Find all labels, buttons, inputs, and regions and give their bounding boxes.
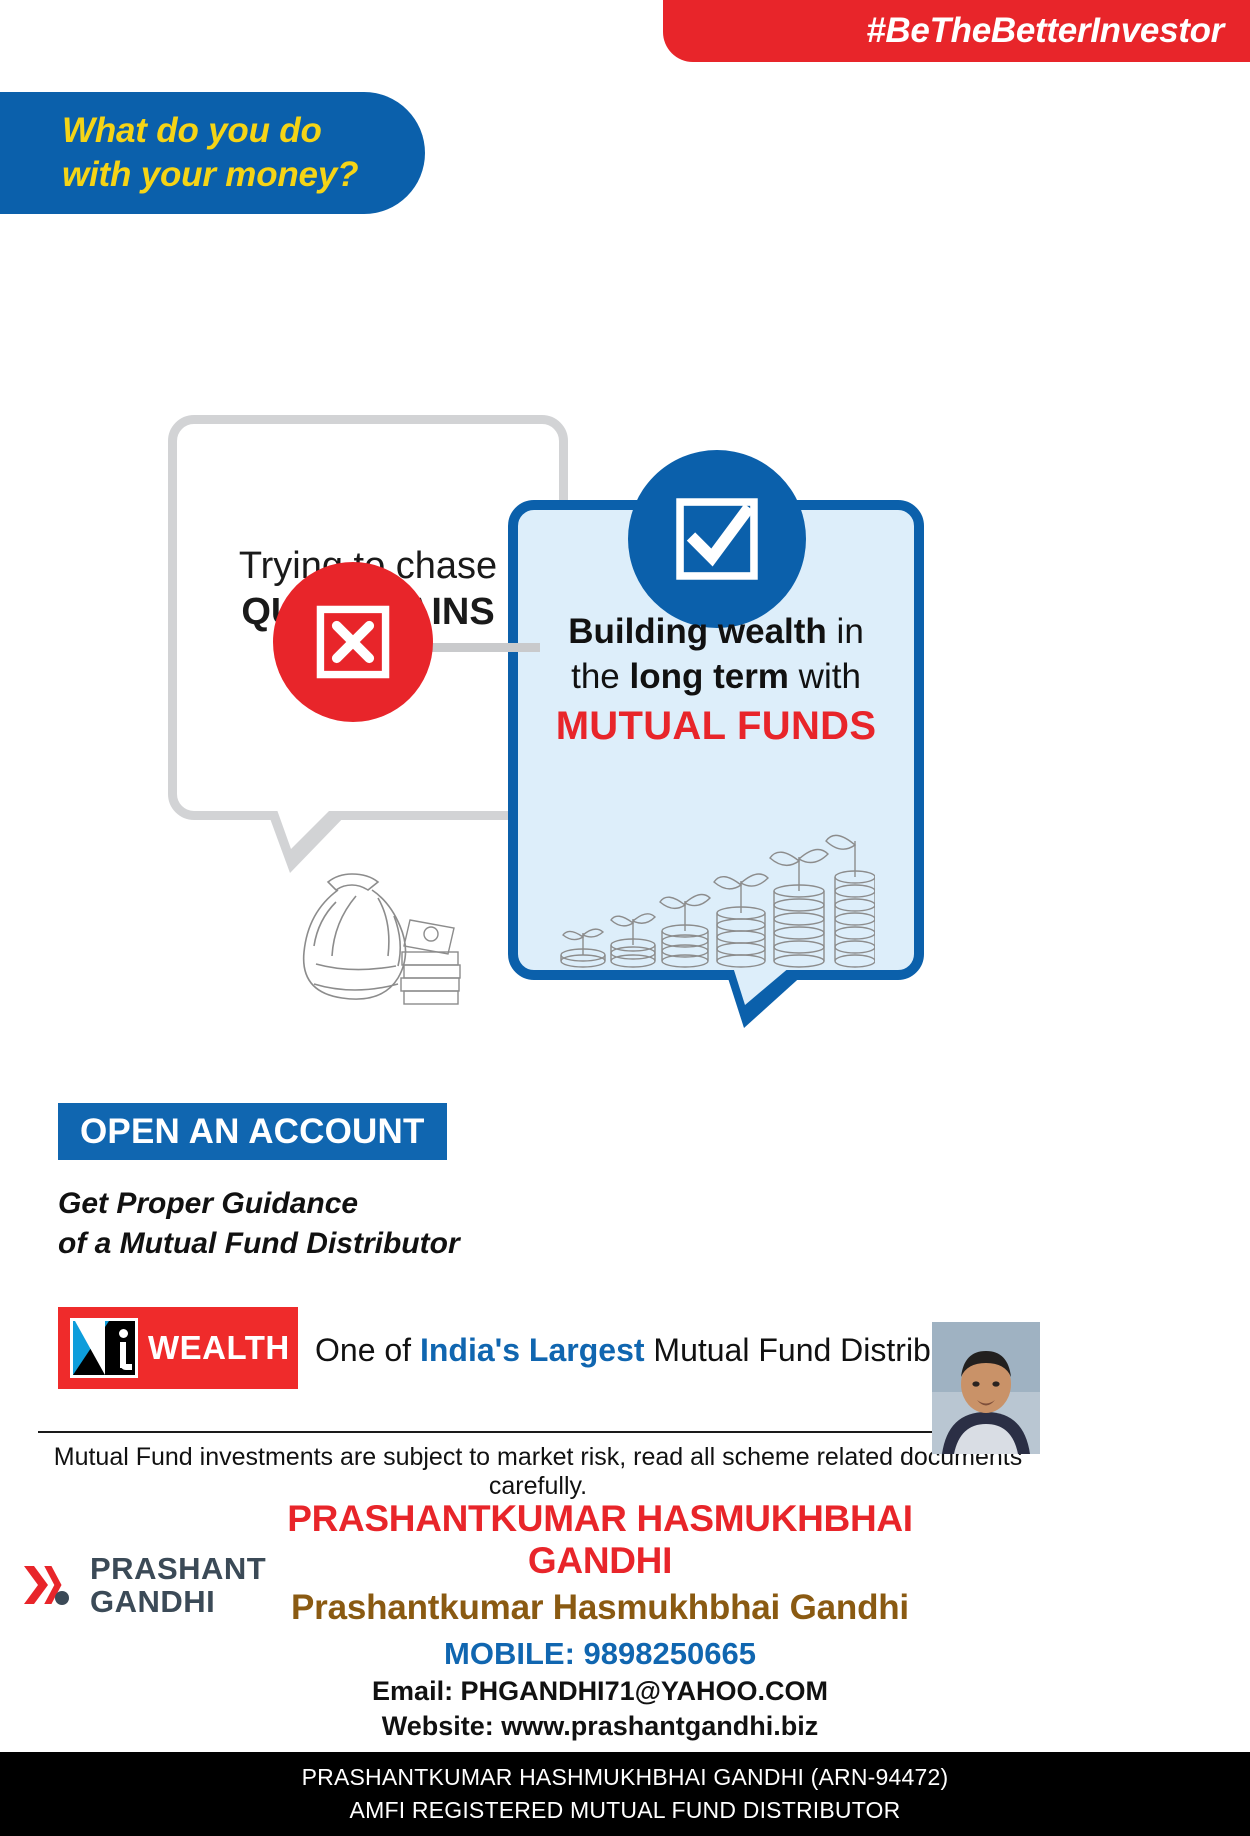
positive-line-2-c: with bbox=[789, 657, 861, 696]
prashant-gandhi-logo: PRASHANT GANDHI bbox=[22, 1548, 287, 1622]
advisor-email[interactable]: Email: PHGANDHI71@YAHOO.COM bbox=[215, 1676, 985, 1707]
comparison-area: Trying to chase QUICK GAINS bbox=[0, 225, 1250, 885]
brand-line-2: GANDHI bbox=[90, 1585, 266, 1618]
nj-wealth-logo: WEALTH bbox=[58, 1307, 298, 1389]
prashant-gandhi-wordmark: PRASHANT GANDHI bbox=[90, 1552, 266, 1619]
checkmark-icon bbox=[628, 450, 806, 628]
positive-line-2-a: the bbox=[571, 657, 629, 696]
nj-tagline: One of India's Largest Mutual Fund Distr… bbox=[315, 1332, 1002, 1369]
money-bag-sketch bbox=[270, 860, 470, 1025]
negative-bubble-tail-inner bbox=[276, 807, 333, 849]
nj-j-hook bbox=[120, 1364, 132, 1370]
tagline-prefix: One of bbox=[315, 1332, 420, 1368]
positive-line-1: Building wealth in bbox=[516, 610, 916, 655]
advisor-name-title: Prashantkumar Hasmukhbhai Gandhi bbox=[215, 1588, 985, 1628]
x-mark-icon bbox=[273, 562, 433, 722]
advisor-name-caps: PRASHANTKUMAR HASMUKHBHAI GANDHI bbox=[215, 1498, 985, 1582]
footer-line-1: PRASHANTKUMAR HASHMUKHBHAI GANDHI (ARN-9… bbox=[302, 1761, 949, 1794]
advisor-mobile[interactable]: MOBILE: 9898250665 bbox=[215, 1636, 985, 1672]
disclaimer-divider bbox=[38, 1431, 1038, 1433]
guidance-text: Get Proper Guidance of a Mutual Fund Dis… bbox=[58, 1184, 758, 1264]
nj-wordmark: WEALTH bbox=[148, 1329, 290, 1367]
prashant-gandhi-mark-icon bbox=[22, 1562, 80, 1608]
open-account-banner[interactable]: OPEN AN ACCOUNT bbox=[58, 1103, 447, 1160]
hashtag-text: #BeTheBetterInvestor bbox=[866, 11, 1224, 51]
tagline-highlight: India's Largest bbox=[420, 1332, 645, 1368]
positive-option-text: Building wealth in the long term with MU… bbox=[516, 610, 916, 752]
nj-monogram-icon bbox=[70, 1318, 138, 1378]
question-line-2: with your money? bbox=[62, 153, 425, 197]
advisor-portrait-photo bbox=[932, 1322, 1040, 1454]
guidance-line-1: Get Proper Guidance bbox=[58, 1184, 758, 1224]
brand-line-1: PRASHANT bbox=[90, 1552, 266, 1585]
positive-line-2: the long term with bbox=[516, 655, 916, 700]
question-banner: What do you do with your money? bbox=[0, 92, 425, 214]
positive-line-3: MUTUAL FUNDS bbox=[516, 700, 916, 752]
positive-line-1-rest: in bbox=[827, 612, 864, 651]
advisor-website[interactable]: Website: www.prashantgandhi.biz bbox=[215, 1711, 985, 1742]
positive-line-1-bold: Building wealth bbox=[568, 612, 827, 651]
open-account-label: OPEN AN ACCOUNT bbox=[80, 1112, 425, 1152]
footer-line-2: AMFI REGISTERED MUTUAL FUND DISTRIBUTOR bbox=[350, 1794, 901, 1827]
growing-coin-stacks-sketch bbox=[555, 775, 875, 980]
nj-white-slash bbox=[75, 1321, 105, 1375]
footer-bar: PRASHANTKUMAR HASHMUKHBHAI GANDHI (ARN-9… bbox=[0, 1752, 1250, 1836]
hashtag-ribbon: #BeTheBetterInvestor bbox=[663, 0, 1250, 62]
guidance-line-2: of a Mutual Fund Distributor bbox=[58, 1224, 758, 1264]
question-line-1: What do you do bbox=[62, 109, 425, 153]
positive-line-2-bold: long term bbox=[629, 657, 788, 696]
disclaimer-text: Mutual Fund investments are subject to m… bbox=[38, 1443, 1038, 1501]
contact-block: PRASHANTKUMAR HASMUKHBHAI GANDHI Prashan… bbox=[215, 1498, 985, 1742]
nj-j-dot bbox=[119, 1329, 128, 1338]
